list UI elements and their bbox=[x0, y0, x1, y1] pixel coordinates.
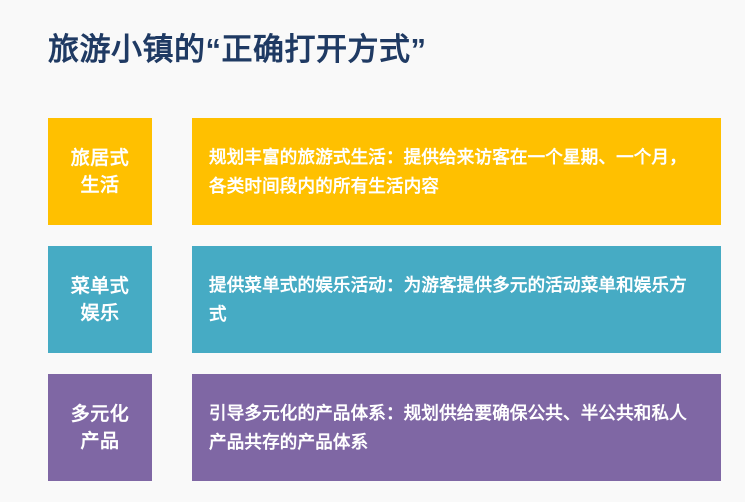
row-label-line1-1: 旅居式 bbox=[71, 148, 130, 169]
row-label-line1-2: 菜单式 bbox=[71, 276, 130, 297]
page-title: 旅游小镇的“正确打开方式” bbox=[48, 24, 708, 76]
list-item: 旅居式 生活 规划丰富的旅游式生活：提供给来访客在一个星期、一个月，各类时间段内… bbox=[48, 118, 721, 225]
row-gap-1 bbox=[152, 118, 192, 225]
row-gap-3 bbox=[152, 374, 192, 481]
row-label-text-2: 菜单式 娱乐 bbox=[71, 273, 130, 327]
row-label-line2-3: 产品 bbox=[80, 431, 119, 452]
row-body-text-2: 提供菜单式的娱乐活动：为游客提供多元的活动菜单和娱乐方式 bbox=[209, 271, 704, 329]
row-label-text-1: 旅居式 生活 bbox=[71, 145, 130, 199]
content-rows-list: 旅居式 生活 规划丰富的旅游式生活：提供给来访客在一个星期、一个月，各类时间段内… bbox=[48, 118, 721, 481]
row-body-panel-1[interactable]: 规划丰富的旅游式生活：提供给来访客在一个星期、一个月，各类时间段内的所有生活内容 bbox=[192, 118, 721, 225]
row-label-line2-2: 娱乐 bbox=[80, 303, 119, 324]
slide-canvas: 旅游小镇的“正确打开方式” 旅居式 生活 规划丰富的旅游式生活：提供给来访客在一… bbox=[0, 0, 745, 502]
row-label-line2-1: 生活 bbox=[80, 175, 119, 196]
row-gap-2 bbox=[152, 246, 192, 353]
list-item: 多元化 产品 引导多元化的产品体系：规划供给要确保公共、半公共和私人产品共存的产… bbox=[48, 374, 721, 481]
row-label-badge-2[interactable]: 菜单式 娱乐 bbox=[48, 246, 152, 353]
row-body-text-3: 引导多元化的产品体系：规划供给要确保公共、半公共和私人产品共存的产品体系 bbox=[209, 399, 704, 457]
row-body-panel-3[interactable]: 引导多元化的产品体系：规划供给要确保公共、半公共和私人产品共存的产品体系 bbox=[192, 374, 721, 481]
row-body-panel-2[interactable]: 提供菜单式的娱乐活动：为游客提供多元的活动菜单和娱乐方式 bbox=[192, 246, 721, 353]
row-label-badge-1[interactable]: 旅居式 生活 bbox=[48, 118, 152, 225]
row-label-badge-3[interactable]: 多元化 产品 bbox=[48, 374, 152, 481]
row-body-text-1: 规划丰富的旅游式生活：提供给来访客在一个星期、一个月，各类时间段内的所有生活内容 bbox=[209, 143, 704, 201]
row-label-line1-3: 多元化 bbox=[71, 404, 130, 425]
list-item: 菜单式 娱乐 提供菜单式的娱乐活动：为游客提供多元的活动菜单和娱乐方式 bbox=[48, 246, 721, 353]
row-label-text-3: 多元化 产品 bbox=[71, 401, 130, 455]
